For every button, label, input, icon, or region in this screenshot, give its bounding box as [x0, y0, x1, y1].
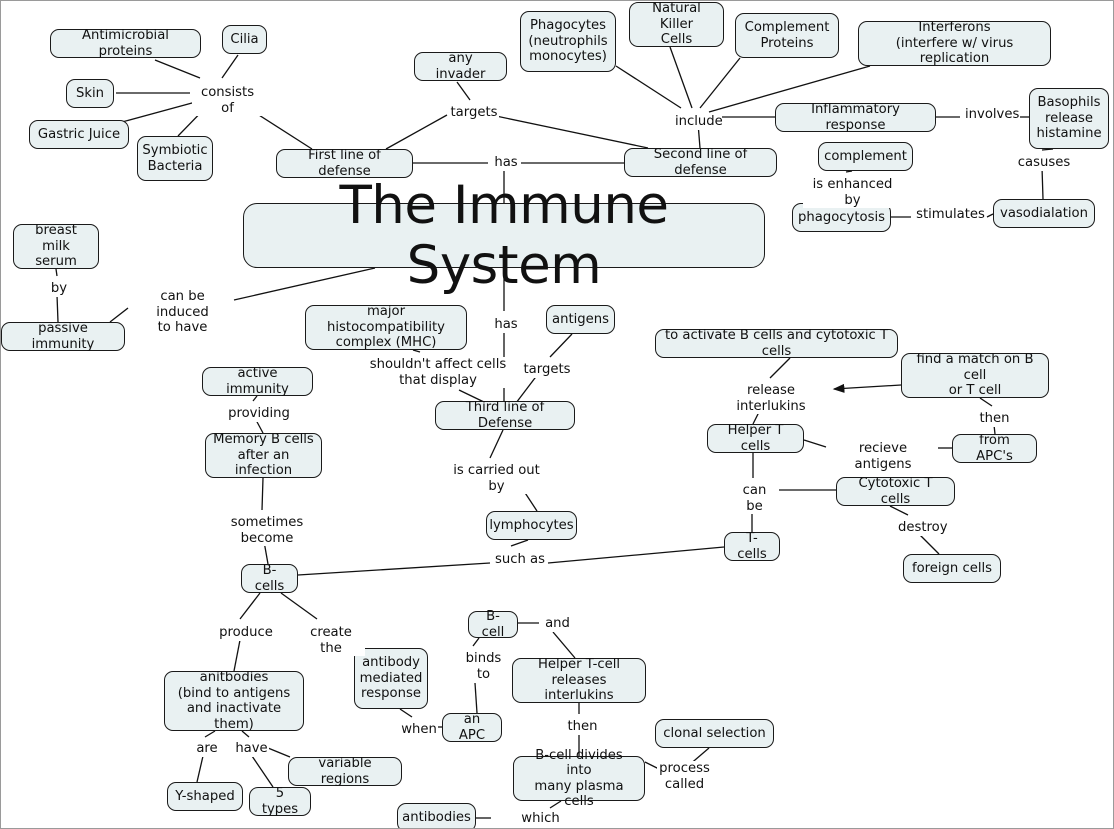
concept-edge: [616, 66, 681, 108]
concept-edge: [234, 640, 240, 671]
concept-edge: [155, 60, 200, 78]
concept-node-anapc[interactable]: an APC: [442, 713, 502, 742]
concept-edge: [920, 535, 939, 554]
concept-node-tcells[interactable]: T-cells: [724, 532, 780, 561]
concept-edge: [400, 709, 412, 717]
link-label-providing: providing: [227, 406, 291, 422]
concept-edge: [496, 116, 648, 148]
concept-edge: [110, 308, 128, 322]
concept-node-cytotoxic[interactable]: Cytotoxic T cells: [836, 477, 955, 506]
concept-edge: [1042, 149, 1053, 150]
link-label-and: and: [543, 616, 572, 632]
concept-node-memorybcells[interactable]: Memory B cells after an infection: [205, 433, 322, 478]
concept-node-firstline[interactable]: First line of defense: [276, 149, 413, 178]
concept-node-phagocytes[interactable]: Phagocytes (neutrophils monocytes): [520, 11, 616, 72]
concept-node-thirdline[interactable]: Third line of Defense: [435, 401, 575, 430]
concept-edge: [457, 82, 470, 100]
concept-edge: [240, 593, 260, 619]
concept-node-mhc[interactable]: major histocompatibility complex (MHC): [305, 305, 467, 350]
concept-node-fivetypes[interactable]: 5 types: [249, 787, 311, 816]
link-label-consistsof: consists of: [192, 85, 263, 116]
concept-edge: [197, 756, 203, 782]
concept-edge: [770, 358, 790, 378]
concept-edge: [281, 593, 317, 619]
concept-node-complementproteins[interactable]: Complement Proteins: [735, 13, 839, 58]
concept-node-foreigncells[interactable]: foreign cells: [903, 554, 1001, 583]
concept-edge: [553, 632, 575, 658]
link-label-are: are: [194, 741, 220, 757]
concept-edge: [511, 540, 528, 546]
link-label-targets1: targets: [449, 105, 499, 121]
link-label-stimulates: stimulates: [915, 207, 986, 223]
concept-edge: [298, 563, 490, 575]
concept-node-fromapcs[interactable]: from APC's: [952, 434, 1037, 463]
concept-node-helpertcells[interactable]: Helper T cells: [707, 424, 804, 453]
concept-edge: [548, 547, 724, 563]
concept-node-bcellsplural[interactable]: B-cells: [241, 564, 298, 593]
concept-node-lymphocytes[interactable]: lymphocytes: [486, 511, 577, 540]
concept-edge: [490, 430, 503, 458]
concept-edge: [262, 478, 263, 510]
concept-node-interferons[interactable]: Interferons (interfere w/ virus replicat…: [858, 21, 1051, 66]
concept-node-activatebcells[interactable]: to activate B cells and cytotoxic T cell…: [655, 329, 898, 358]
link-label-targets2: targets: [522, 362, 572, 378]
link-label-releaseinterlukins: release interlukins: [711, 383, 831, 414]
concept-edge: [475, 683, 477, 713]
concept-node-findmatch[interactable]: find a match on B cell or T cell: [901, 353, 1049, 398]
concept-node-helpertcellreleases[interactable]: Helper T-cell releases interlukins: [512, 658, 646, 703]
concept-edge: [122, 100, 203, 122]
concept-node-complement[interactable]: complement: [818, 142, 913, 171]
concept-edge: [550, 334, 572, 357]
concept-node-anyinvader[interactable]: any invader: [414, 52, 507, 81]
link-label-bindsto: binds to: [463, 651, 504, 682]
concept-edge: [57, 295, 58, 322]
link-label-createthe: create the: [297, 625, 365, 656]
link-label-include: include: [674, 114, 722, 130]
concept-node-skin[interactable]: Skin: [66, 79, 114, 108]
link-label-casuses: casuses: [1016, 155, 1072, 171]
concept-edge: [222, 55, 238, 78]
link-label-then2: then: [566, 719, 599, 735]
concept-node-breastmilk[interactable]: breast milk serum: [13, 224, 99, 269]
concept-node-bcelldivides[interactable]: B-cell divides into many plasma cells: [513, 756, 645, 801]
concept-node-vasodialation[interactable]: vasodialation: [993, 199, 1095, 228]
link-label-have: have: [234, 741, 269, 757]
concept-node-passiveimmunity[interactable]: passive immunity: [1, 322, 125, 351]
link-label-by: by: [48, 281, 70, 297]
concept-edge: [804, 440, 826, 447]
link-label-has1: has: [492, 155, 520, 171]
concept-node-antibodiesbig[interactable]: anitbodies (bind to antigens and inactiv…: [164, 671, 304, 731]
concept-node-yshaped[interactable]: Y-shaped: [167, 782, 243, 811]
link-label-produce: produce: [218, 625, 274, 641]
concept-edge: [386, 115, 447, 149]
link-label-recieveantigens: recieve antigens: [830, 441, 936, 472]
link-label-then1: then: [978, 411, 1011, 427]
concept-node-antimicrobial[interactable]: Antimicrobial proteins: [50, 29, 201, 58]
concept-node-secondline[interactable]: Second line of defense: [624, 148, 777, 177]
concept-edge: [1042, 167, 1043, 199]
link-label-suchas: such as: [494, 552, 546, 568]
concept-node-gastric[interactable]: Gastric Juice: [29, 120, 129, 149]
concept-edge: [268, 748, 290, 757]
concept-edge: [700, 58, 740, 108]
link-label-canbeinduced: can be induced to have: [132, 289, 233, 336]
concept-edge: [516, 374, 538, 403]
concept-edge: [980, 398, 992, 406]
concept-node-antibodiessmall[interactable]: antibodies: [397, 803, 476, 829]
concept-edge: [890, 506, 908, 515]
concept-edge: [56, 269, 57, 276]
central-topic-node[interactable]: The Immune System: [243, 203, 765, 268]
link-label-destroy: destroy: [897, 520, 947, 536]
concept-node-inflammatory[interactable]: Inflammatory response: [775, 103, 936, 132]
concept-edge: [252, 756, 273, 787]
concept-edge: [670, 47, 692, 108]
concept-node-antibodymediated[interactable]: antibody mediated response: [354, 648, 428, 709]
link-label-iscarriedoutby: is carried out by: [444, 463, 549, 494]
concept-node-cilia[interactable]: Cilia: [222, 25, 267, 54]
concept-node-clonalselection[interactable]: clonal selection: [655, 719, 774, 748]
link-label-shouldntaffect: shouldn't affect cells that display: [367, 357, 509, 388]
link-label-isenhancedby: is enhanced by: [803, 177, 902, 208]
link-label-sometimesbecome: sometimes become: [205, 515, 329, 546]
link-label-has2: has: [492, 317, 520, 333]
concept-edge: [834, 385, 901, 389]
link-label-whichrelease: which release: [495, 811, 586, 829]
concept-node-variableregions[interactable]: variable regions: [288, 757, 402, 786]
link-label-when: when: [400, 722, 438, 738]
concept-node-activeimmunity[interactable]: active immunity: [202, 367, 313, 396]
concept-node-bcellsingle1[interactable]: B-cell: [468, 611, 518, 638]
link-label-involves: involves: [964, 107, 1020, 123]
concept-node-symbiotic[interactable]: Symbiotic Bacteria: [137, 136, 213, 181]
link-label-canbe: can be: [732, 483, 777, 514]
concept-edge: [256, 420, 263, 433]
concept-node-nkcells[interactable]: Natural Killer Cells: [629, 2, 724, 47]
concept-node-antigens[interactable]: antigens: [546, 305, 615, 334]
concept-edge: [846, 171, 852, 172]
link-label-processcalled: process called: [657, 761, 712, 792]
concept-node-basophils[interactable]: Basophils release histamine: [1029, 88, 1109, 149]
concept-map-canvas: Antimicrobial proteinsCiliaSkinGastric J…: [0, 0, 1114, 829]
